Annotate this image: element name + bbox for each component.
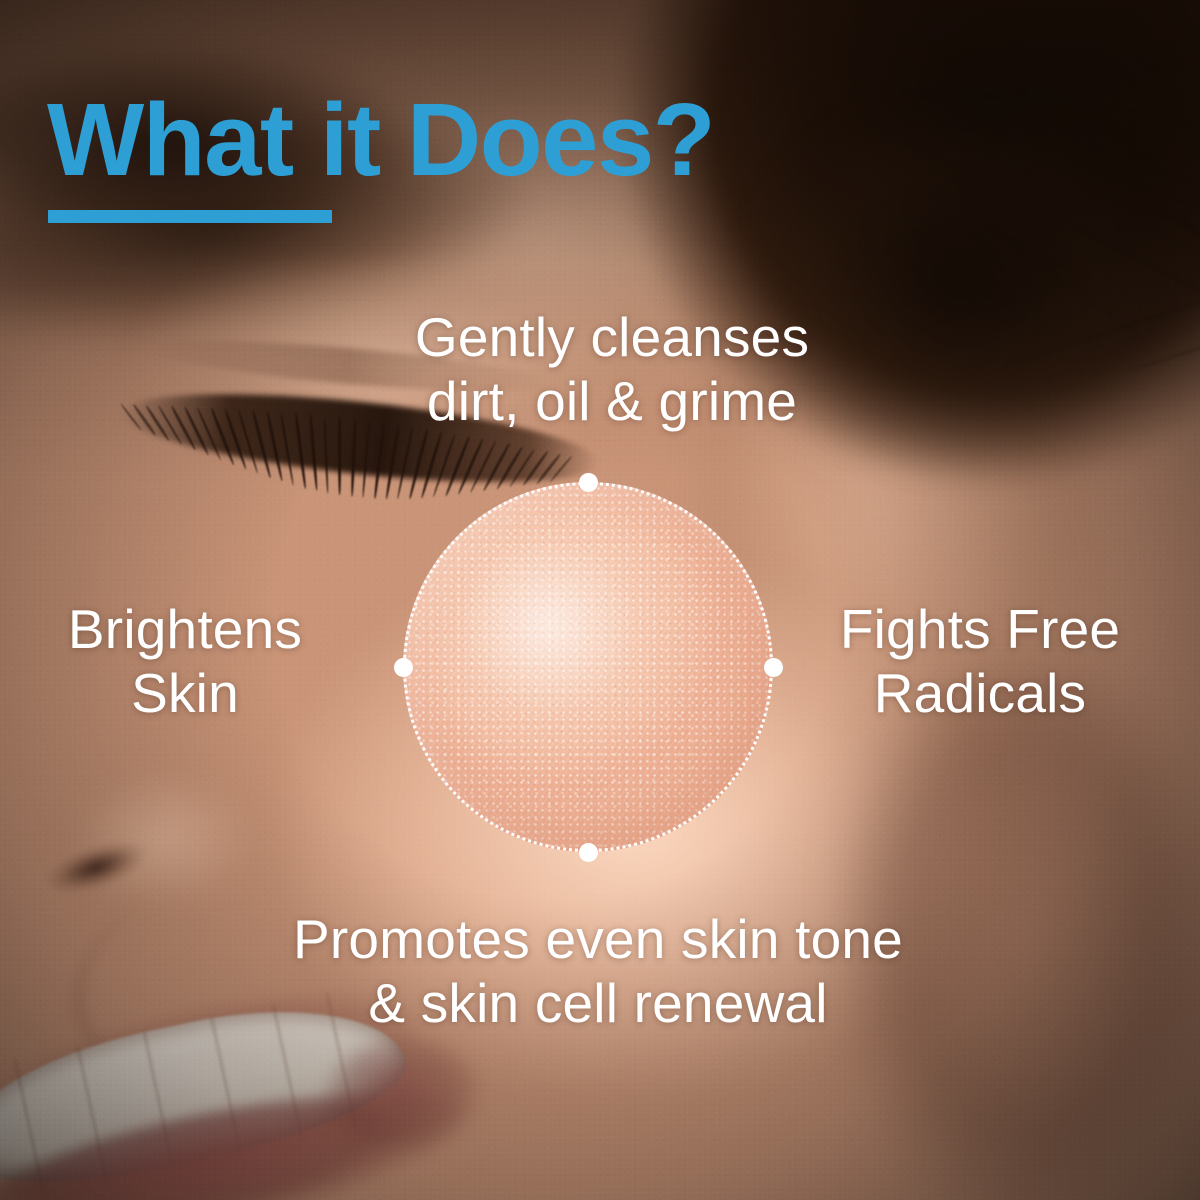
feature-label-left: Brightens Skin [20, 598, 350, 726]
promo-graphic-canvas: What it Does? Gently cleanses dirt, oil … [0, 0, 1200, 1200]
callout-node-top[interactable] [579, 473, 598, 492]
callout-node-left[interactable] [394, 658, 413, 677]
feature-label-right: Fights Free Radicals [810, 598, 1150, 726]
callout-node-right[interactable] [764, 658, 783, 677]
title-underline-rule [48, 210, 332, 223]
callout-node-bottom[interactable] [579, 843, 598, 862]
feature-label-bottom: Promotes even skin tone & skin cell rene… [0, 908, 1198, 1036]
dotted-circle-border [403, 482, 773, 852]
feature-label-top: Gently cleanses dirt, oil & grime [12, 306, 1200, 434]
page-title: What it Does? [47, 88, 714, 191]
